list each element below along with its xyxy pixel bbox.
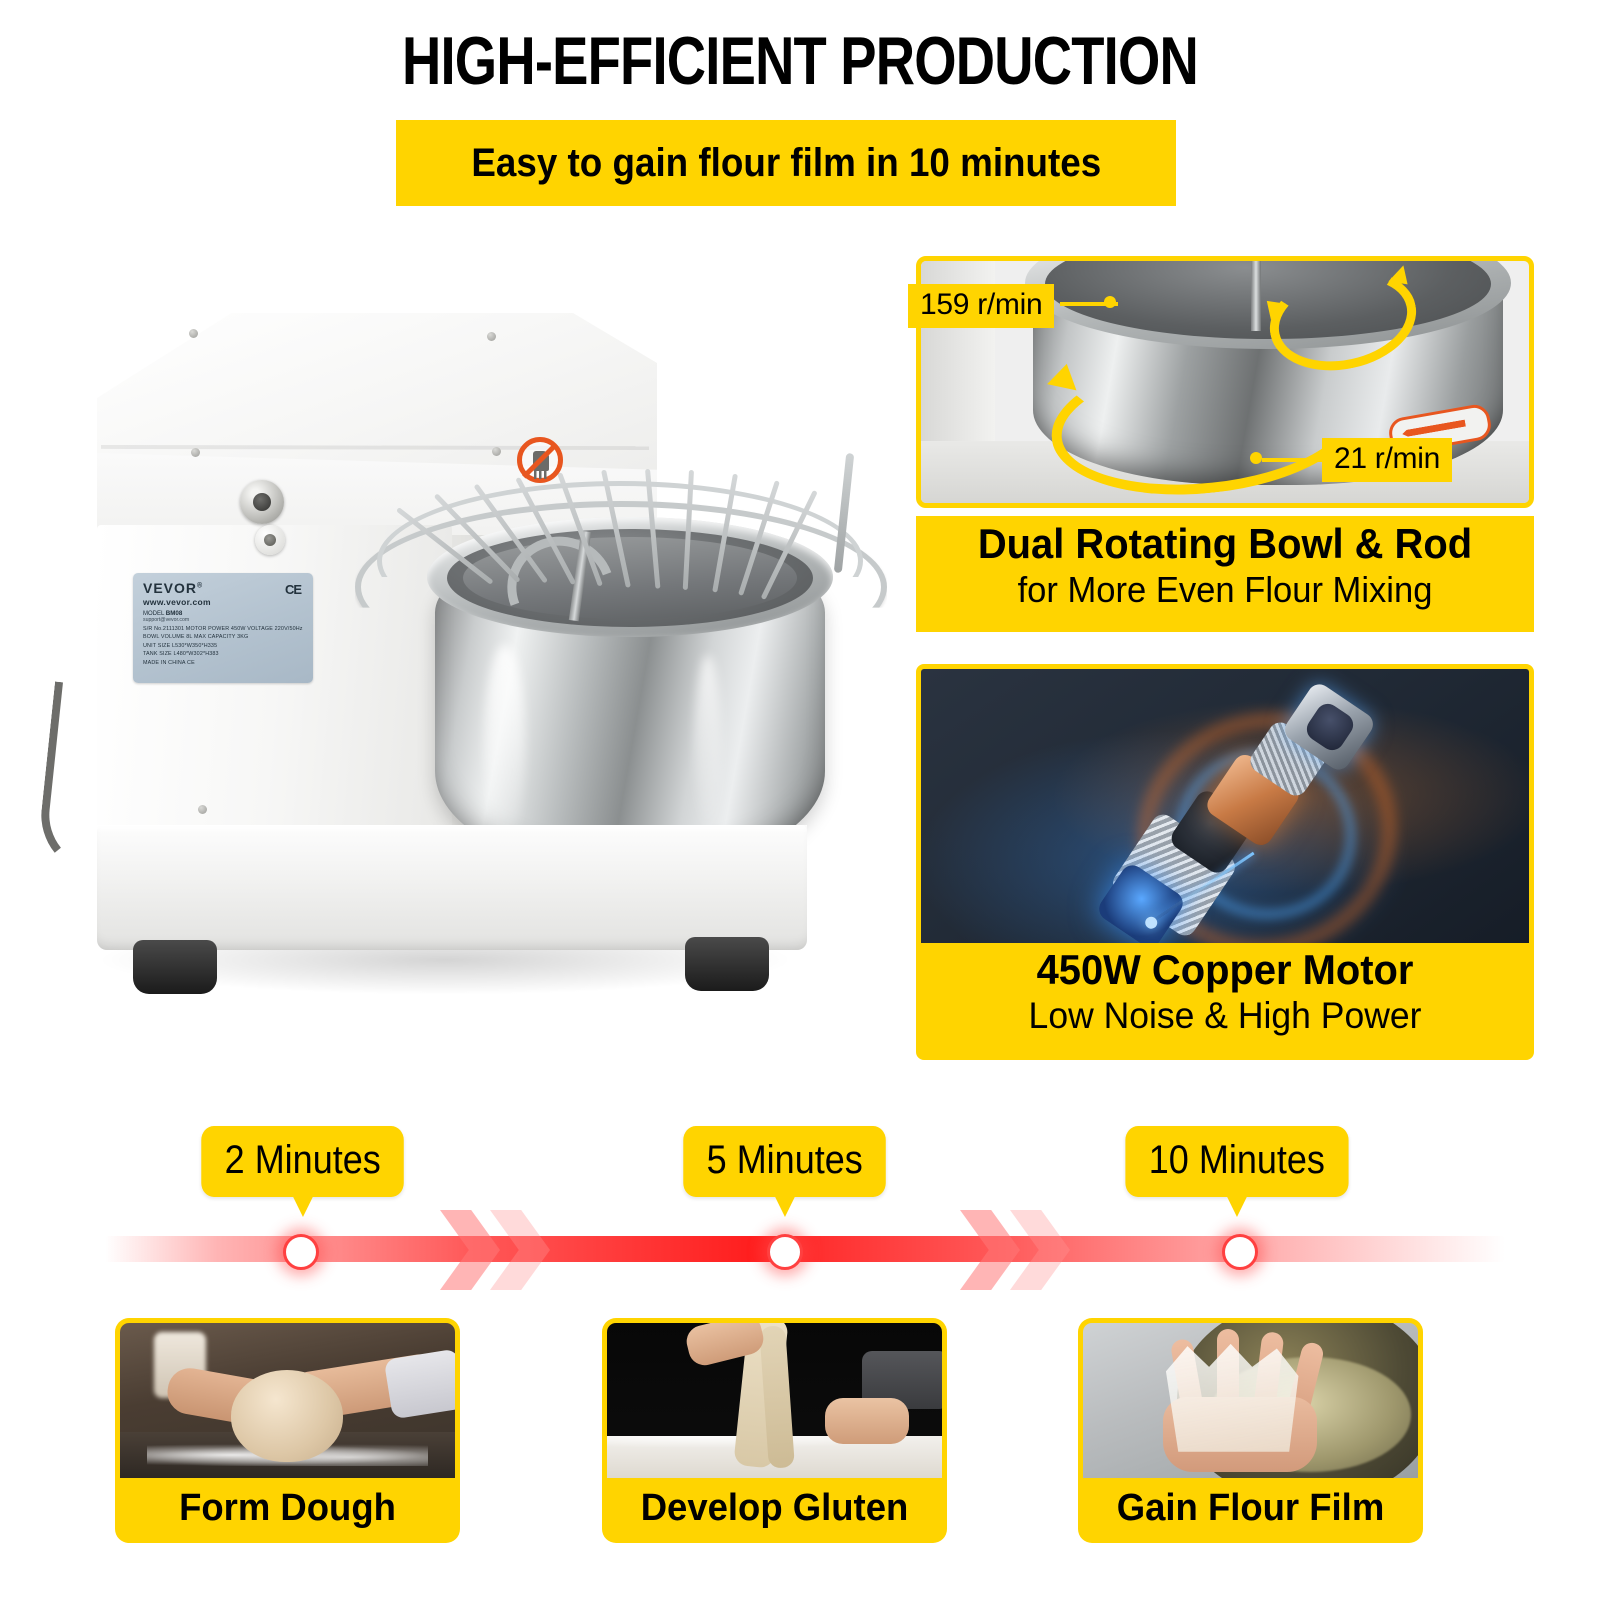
hands-forming-dough-photo <box>120 1323 455 1478</box>
badge-tail <box>774 1195 796 1217</box>
spec-line-bowl: BOWL VOLUME 8L MAX CAPACITY 3KG <box>143 633 303 641</box>
mixer-base <box>97 825 807 950</box>
step-card-2-label: Develop Gluten <box>614 1478 936 1538</box>
process-timeline: 2 Minutes 5 Minutes 10 Minutes <box>0 1110 1600 1290</box>
infographic-root: HIGH-EFFICIENT PRODUCTION Easy to gain f… <box>0 0 1600 1600</box>
timeline-badge-1: 2 Minutes <box>201 1126 404 1197</box>
screw-icon <box>198 805 207 814</box>
subtitle-text: Easy to gain flour film in 10 minutes <box>471 141 1101 186</box>
callout-rod-speed: 159 r/min <box>908 284 1054 328</box>
support-email: support@vevor.com <box>143 617 303 623</box>
page-title: HIGH-EFFICIENT PRODUCTION <box>160 22 1440 100</box>
callout-bowl-speed: 21 r/min <box>1322 438 1452 482</box>
badge-tail <box>1226 1195 1248 1217</box>
brand-website: www.vevor.com <box>143 597 303 607</box>
lower-hand <box>825 1398 909 1444</box>
step-card-gain-flour-film: Gain Flour Film <box>1078 1318 1423 1543</box>
ce-mark: CE <box>285 582 301 597</box>
motor-photo <box>921 669 1529 945</box>
spec-line-unit: UNIT SIZE L530*W350*H335 <box>143 642 303 650</box>
mixer-knob <box>255 525 285 555</box>
feature-panel-motor: 450W Copper Motor Low Noise & High Power <box>916 664 1534 1060</box>
feature-bowl-caption-line1: Dual Rotating Bowl & Rod <box>931 520 1518 568</box>
flour-film-hand-photo <box>1083 1323 1418 1478</box>
timeline-badge-1-label: 2 Minutes <box>225 1138 381 1182</box>
timeline-node <box>1222 1234 1258 1270</box>
mixer-shaft-hub <box>240 480 284 524</box>
feature-motor-caption-line1: 450W Copper Motor <box>936 945 1514 995</box>
motor-assembly-render <box>1096 679 1396 945</box>
spec-line-sn: S/R No.2111301 MOTOR POWER 450W VOLTAGE … <box>143 625 303 633</box>
feature-bowl-caption-line2: for More Even Flour Mixing <box>928 568 1521 611</box>
bowl-highlight <box>695 655 721 835</box>
leader-dot-bowl <box>1250 452 1262 464</box>
timeline-badge-2: 5 Minutes <box>683 1126 886 1197</box>
stretching-dough-photo <box>607 1323 942 1478</box>
bowl-closeup-shaft <box>1251 256 1261 331</box>
leader-dot-rod <box>1104 296 1116 308</box>
badge-tail <box>292 1195 314 1217</box>
timeline-node <box>767 1234 803 1270</box>
rubber-foot <box>133 940 217 994</box>
screw-icon <box>191 448 200 457</box>
subtitle-banner: Easy to gain flour film in 10 minutes <box>396 120 1176 206</box>
dough-ball <box>231 1370 343 1462</box>
feature-motor-caption-line2: Low Noise & High Power <box>933 995 1517 1038</box>
screw-icon <box>189 329 198 338</box>
bowl-highlight <box>485 645 525 845</box>
rubber-foot <box>685 937 769 991</box>
shirt-sleeve <box>384 1349 455 1420</box>
model-row: MODEL BM08 <box>143 610 303 617</box>
product-photo: CE VEVOR® www.vevor.com MODEL BM08 suppo… <box>55 285 865 1045</box>
step-card-develop-gluten: Develop Gluten <box>602 1318 947 1543</box>
timeline-node <box>283 1234 319 1270</box>
step-card-form-dough: Form Dough <box>115 1318 460 1543</box>
step-card-3-label: Gain Flour Film <box>1090 1478 1412 1538</box>
spec-line-origin: MADE IN CHINA CE <box>143 659 303 667</box>
screw-icon <box>492 447 501 456</box>
feature-bowl-caption: Dual Rotating Bowl & Rod for More Even F… <box>916 516 1534 632</box>
wire-safety-guard <box>355 475 875 665</box>
brand-logo: VEVOR® <box>143 581 303 595</box>
spec-line-tank: TANK SIZE L480*W302*H383 <box>143 650 303 658</box>
screw-icon <box>487 332 496 341</box>
timeline-badge-3-label: 10 Minutes <box>1149 1138 1325 1182</box>
step-card-1-label: Form Dough <box>127 1478 449 1538</box>
timeline-badge-3: 10 Minutes <box>1125 1126 1348 1197</box>
product-nameplate: CE VEVOR® www.vevor.com MODEL BM08 suppo… <box>133 573 313 683</box>
timeline-badge-2-label: 5 Minutes <box>707 1138 863 1182</box>
feature-motor-caption: 450W Copper Motor Low Noise & High Power <box>921 943 1529 1055</box>
leader-line-bowl <box>1262 458 1328 462</box>
no-hands-warning-icon <box>517 437 563 483</box>
